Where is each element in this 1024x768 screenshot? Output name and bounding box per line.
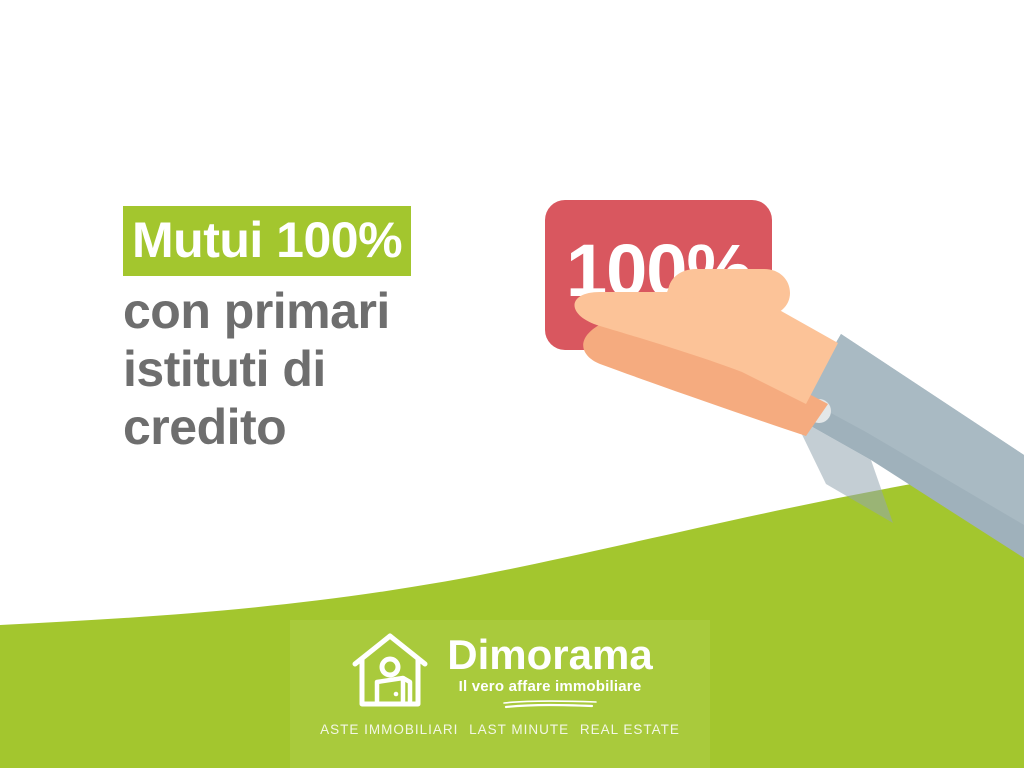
logo-row: Dimorama Il vero affare immobiliare bbox=[347, 627, 652, 715]
logo-wordmark: Dimorama Il vero affare immobiliare bbox=[447, 633, 652, 709]
house-with-door-icon bbox=[347, 628, 433, 714]
headline-line-1: con primari bbox=[123, 282, 543, 340]
headline-line-3: credito bbox=[123, 398, 543, 456]
headline-line-2: istituti di bbox=[123, 340, 543, 398]
headline-block: Mutui 100% con primari istituti di credi… bbox=[123, 206, 543, 456]
logo-brand-name: Dimorama bbox=[447, 633, 652, 677]
logo-tagline: Il vero affare immobiliare bbox=[459, 678, 642, 696]
headline-highlight: Mutui 100% bbox=[123, 206, 411, 276]
dimorama-logo[interactable]: Dimorama Il vero affare immobiliare ASTE… bbox=[290, 620, 710, 768]
logo-services-line: ASTE IMMOBILIARI LAST MINUTE REAL ESTATE bbox=[317, 722, 683, 738]
headline-body: con primari istituti di credito bbox=[123, 282, 543, 456]
promo-banner: Mutui 100% con primari istituti di credi… bbox=[0, 0, 1024, 768]
logo-service-2: LAST MINUTE bbox=[469, 722, 569, 737]
logo-service-3: REAL ESTATE bbox=[580, 722, 680, 737]
logo-service-1: ASTE IMMOBILIARI bbox=[320, 722, 458, 737]
logo-underline-flourish bbox=[502, 700, 598, 709]
